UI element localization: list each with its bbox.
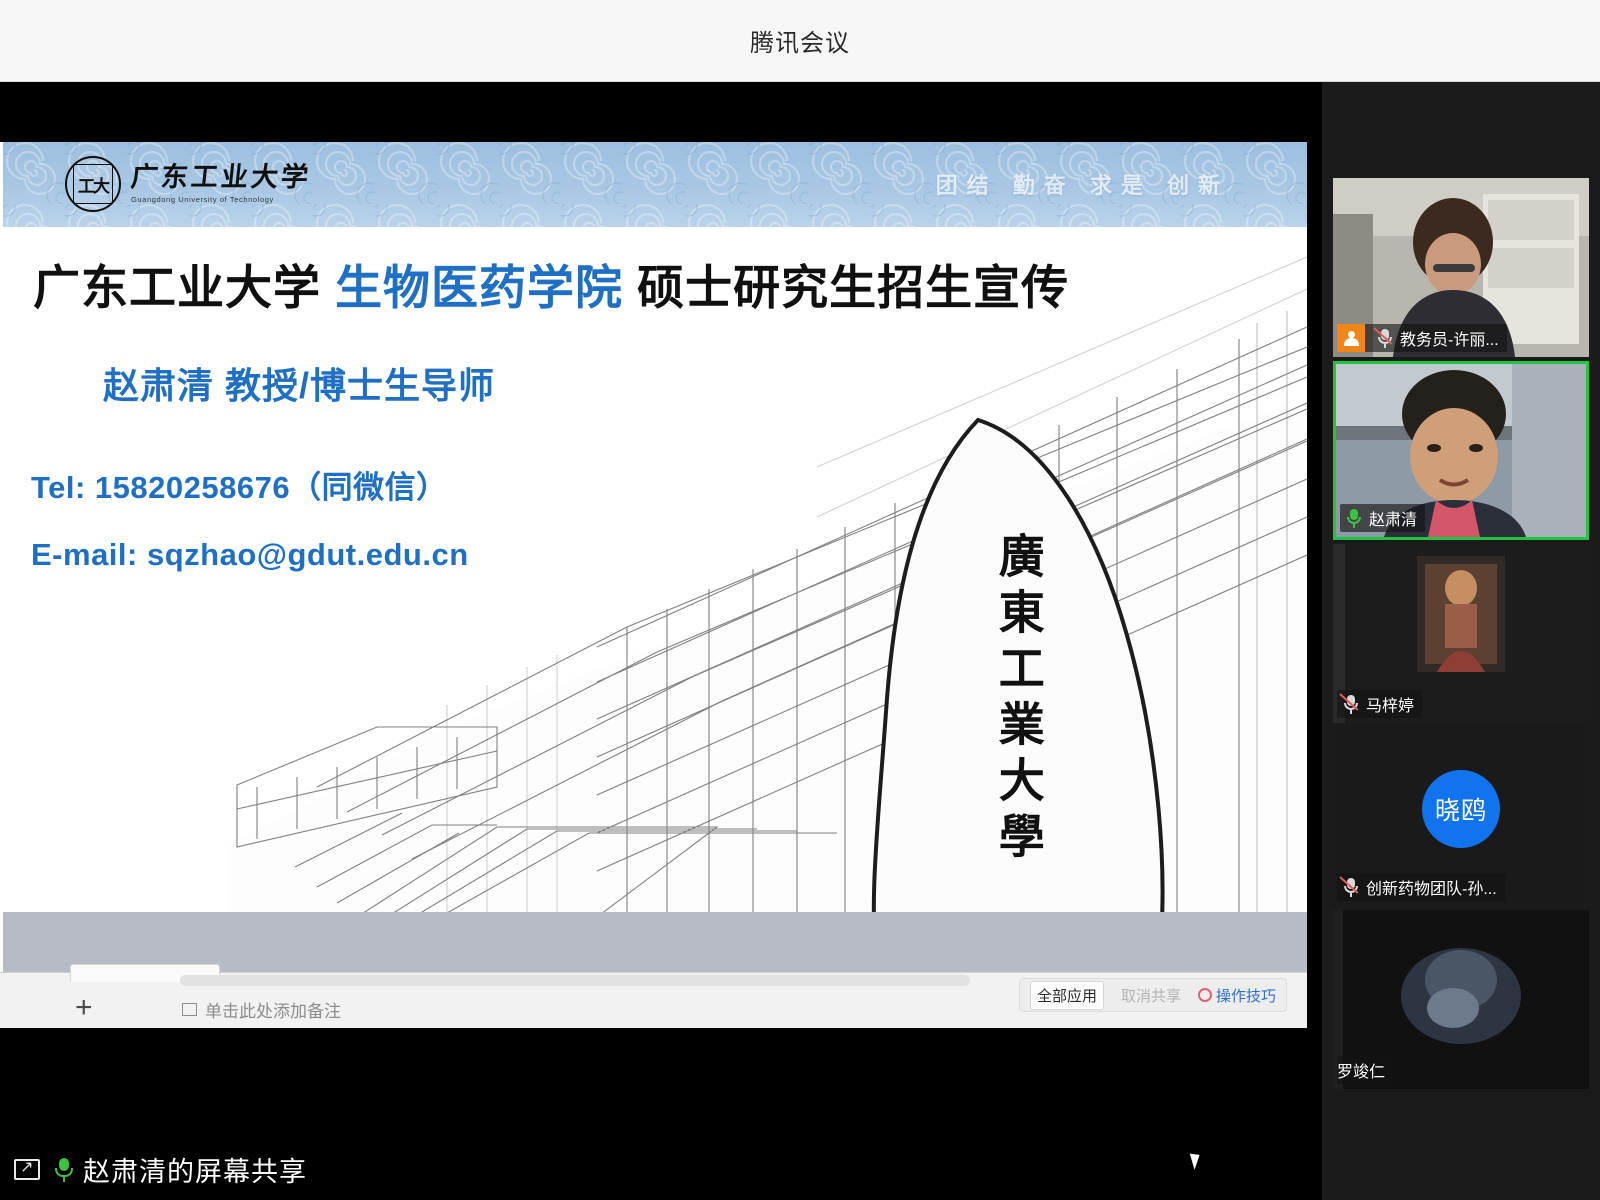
stop-share-button: 取消共享	[1114, 981, 1188, 1010]
participant-tile[interactable]: 赵肃清	[1333, 361, 1589, 540]
tips-label: 操作技巧	[1216, 985, 1276, 1006]
seal-glyph: 工大	[78, 172, 108, 197]
screen-share-status-bar: 赵肃清的屏幕共享	[0, 1138, 1322, 1200]
participant-label: 教务员-许丽...	[1337, 324, 1507, 352]
slide-title: 广东工业大学 生物医药学院 硕士研究生招生宣传	[33, 249, 1069, 318]
mic-active-icon[interactable]	[53, 1156, 75, 1182]
slide-title-part3: 硕士研究生招生宣传	[623, 261, 1069, 314]
participant-label: 马梓婷	[1337, 690, 1422, 718]
screen-share-icon	[14, 1159, 40, 1180]
participant-tile[interactable]: 马梓婷	[1333, 544, 1589, 723]
host-badge-icon	[1337, 324, 1365, 352]
university-name-cn: 广东工业大学	[130, 164, 313, 191]
slide-email: E-mail: sqzhao@gdut.edu.cn	[31, 537, 469, 573]
mic-muted-icon[interactable]	[1342, 877, 1360, 897]
slide-canvas[interactable]: 工大 广东工业大学 Guangdong University of Techno…	[3, 142, 1307, 912]
university-seal-icon: 工大	[65, 156, 121, 212]
stone-calligraphy: 廣東工業大學	[989, 532, 1047, 868]
tencent-meeting-window: 腾讯会议	[0, 0, 1600, 1200]
participant-label: 赵肃清	[1340, 504, 1425, 532]
mic-muted-icon[interactable]	[1376, 328, 1394, 348]
mic-active-icon[interactable]	[1345, 508, 1363, 528]
participant-tile[interactable]: 教务员-许丽...	[1333, 178, 1589, 357]
note-icon	[182, 1003, 197, 1016]
participant-sidebar: 教务员-许丽... 赵肃清	[1322, 82, 1600, 1200]
notes-placeholder[interactable]: 单击此处添加备注	[182, 997, 341, 1022]
participant-name: 创新药物团队-孙...	[1366, 875, 1497, 899]
slide-header-band: 工大 广东工业大学 Guangdong University of Techno…	[3, 142, 1307, 227]
participant-tile[interactable]: 罗竣仁	[1333, 910, 1589, 1089]
window-title-bar: 腾讯会议	[0, 0, 1600, 82]
share-status-text: 赵肃清的屏幕共享	[83, 1150, 307, 1189]
slide-presenter: 赵肃清 教授/博士生导师	[103, 357, 495, 409]
share-floating-toolbar[interactable]: 全部应用 取消共享 操作技巧	[1019, 978, 1287, 1012]
participant-name: 赵肃清	[1369, 506, 1417, 530]
apply-all-button[interactable]: 全部应用	[1030, 981, 1104, 1010]
add-slide-button[interactable]: +	[75, 991, 93, 1025]
shared-screen-region: 工大 广东工业大学 Guangdong University of Techno…	[0, 82, 1322, 1122]
slide-body: 廣東工業大學 广东工业大学 生物医药学院 硕士研究生招生宣传 赵肃清 教授/博士…	[3, 227, 1307, 912]
participant-tile[interactable]: 晓鸥 创新药物团队-孙...	[1333, 727, 1589, 906]
university-motto: 团结 勤奋 求是 创新	[936, 168, 1229, 200]
mic-muted-icon[interactable]	[1342, 694, 1360, 714]
participant-name: 马梓婷	[1366, 692, 1414, 716]
tips-link[interactable]: 操作技巧	[1198, 985, 1276, 1006]
participant-label: 罗竣仁	[1337, 1056, 1393, 1084]
university-name-en: Guangdong University of Technology	[131, 195, 311, 204]
horizontal-scrollbar[interactable]	[180, 975, 970, 986]
university-logo: 工大 广东工业大学 Guangdong University of Techno…	[65, 156, 311, 212]
participant-name: 教务员-许丽...	[1400, 326, 1499, 350]
tips-icon	[1198, 988, 1212, 1002]
app-title: 腾讯会议	[750, 23, 850, 58]
slide-title-part1: 广东工业大学	[33, 261, 335, 314]
participant-name: 罗竣仁	[1337, 1058, 1385, 1082]
slide-title-part2: 生物医药学院	[335, 261, 623, 314]
shared-powerpoint-window: 工大 广东工业大学 Guangdong University of Techno…	[0, 142, 1307, 1028]
avatar: 晓鸥	[1422, 770, 1500, 848]
slide-bottom-strip	[3, 912, 1307, 972]
campus-stone-monument: 廣東工業大學	[858, 412, 1178, 912]
notes-placeholder-text: 单击此处添加备注	[205, 997, 341, 1022]
participant-label: 创新药物团队-孙...	[1337, 873, 1505, 901]
slide-telephone: Tel: 15820258676（同微信）	[31, 462, 448, 507]
